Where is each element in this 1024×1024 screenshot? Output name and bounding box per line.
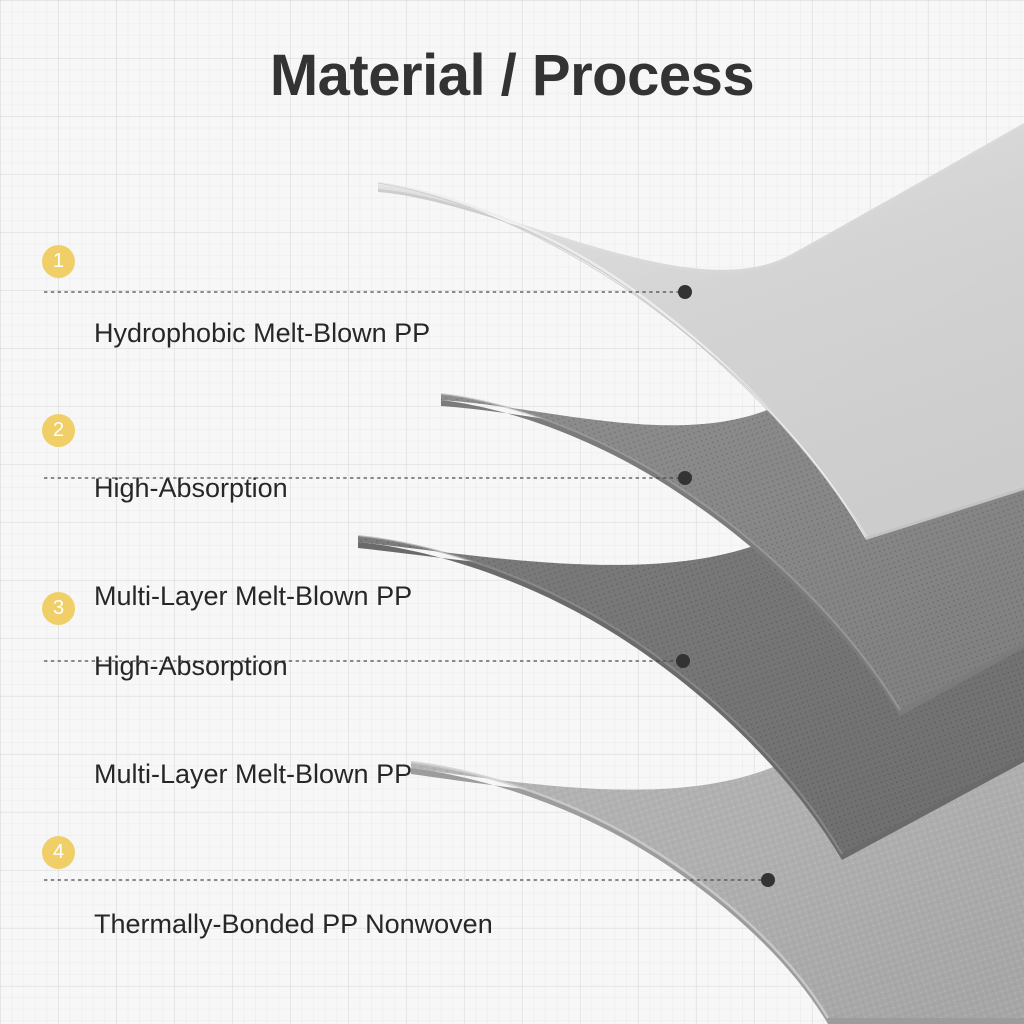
diagram-canvas: Material / Process 1 Hydrophobic Melt-Bl… (0, 0, 1024, 1024)
page-title: Material / Process (0, 42, 1024, 109)
badge-number-2: 2 (42, 414, 75, 447)
callout-label-3: High-Absorption Multi-Layer Melt-Blown P… (94, 576, 412, 864)
badge-number-4: 4 (42, 836, 75, 869)
callout-label-1: Hydrophobic Melt-Blown PP (94, 243, 430, 423)
callout-label-2-line1: High-Absorption (94, 470, 412, 506)
callout-label-3-line1: High-Absorption (94, 648, 412, 684)
badge-number-1: 1 (42, 245, 75, 278)
callout-label-1-line1: Hydrophobic Melt-Blown PP (94, 315, 430, 351)
badge-number-3: 3 (42, 592, 75, 625)
callout-label-4: Thermally-Bonded PP Nonwoven (94, 834, 493, 1014)
callout-label-3-line2: Multi-Layer Melt-Blown PP (94, 756, 412, 792)
callout-label-4-line1: Thermally-Bonded PP Nonwoven (94, 906, 493, 942)
